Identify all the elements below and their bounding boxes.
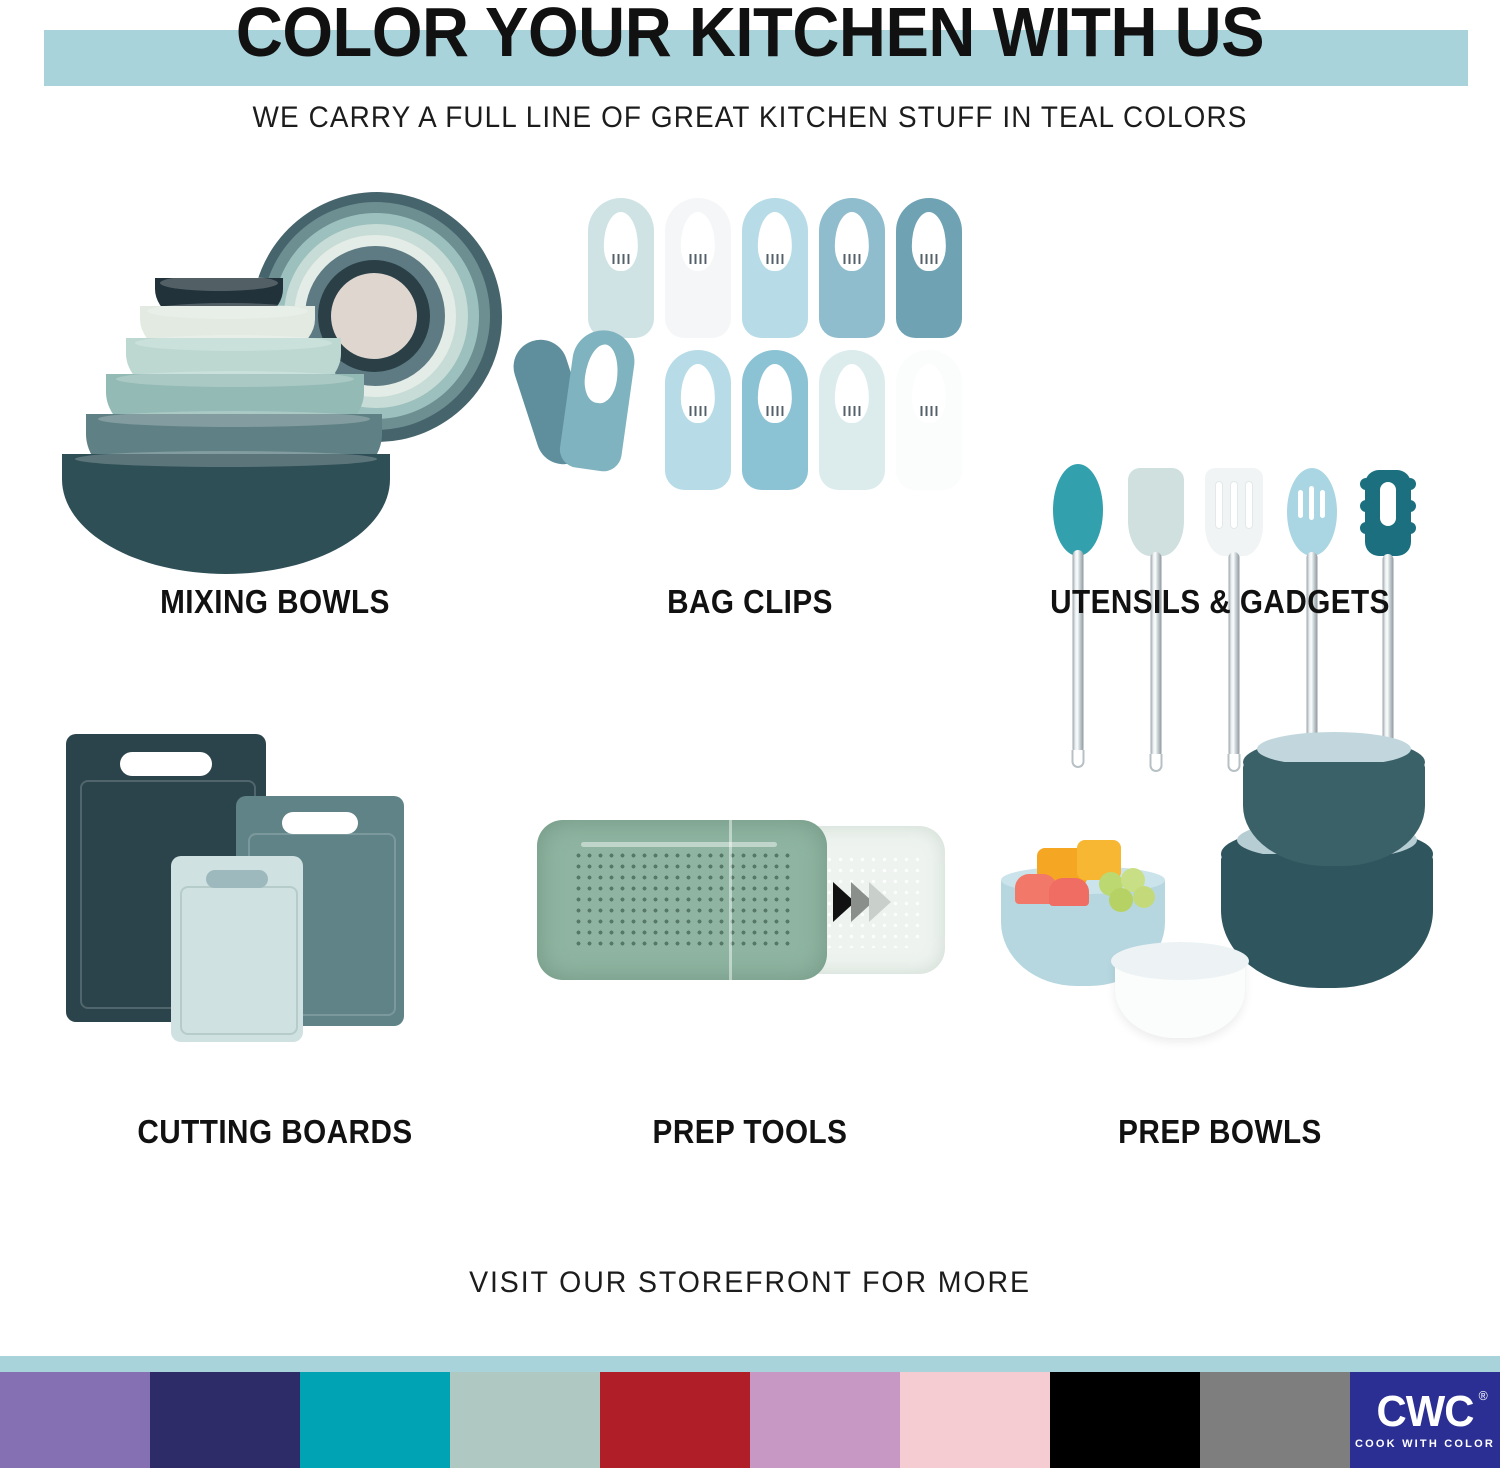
page-subtitle: WE CARRY A FULL LINE OF GREAT KITCHEN ST… [53, 100, 1448, 136]
product-label: PREP TOOLS [539, 1112, 962, 1152]
cutting-boards-photo [40, 708, 510, 1108]
poster-canvas: COLOR YOUR KITCHEN WITH US WE CARRY A FU… [0, 0, 1500, 1468]
swatch-gray [1200, 1372, 1350, 1468]
page-title: COLOR YOUR KITCHEN WITH US [53, 0, 1448, 70]
swatch-pink [900, 1372, 1050, 1468]
product-label: BAG CLIPS [539, 582, 962, 622]
mixing-bowls-photo [40, 178, 510, 578]
swatch-sage [450, 1372, 600, 1468]
header: COLOR YOUR KITCHEN WITH US WE CARRY A FU… [0, 0, 1500, 150]
product-grid: MIXING BOWLS [0, 178, 1500, 1238]
storefront-callout: VISIT OUR STOREFRONT FOR MORE [38, 1265, 1463, 1301]
swatch-orchid [750, 1372, 900, 1468]
product-card-cutting-boards[interactable]: CUTTING BOARDS [40, 708, 510, 1178]
logo-wordmark: CWC ® [1377, 1391, 1474, 1433]
bag-clips-photo [515, 178, 985, 578]
swatch-red [600, 1372, 750, 1468]
swatch-teal [300, 1372, 450, 1468]
footer-accent-band [0, 1356, 1500, 1372]
swatch-navy [150, 1372, 300, 1468]
logo-tagline: COOK WITH COLOR [1355, 1438, 1495, 1450]
product-label: CUTTING BOARDS [64, 1112, 487, 1152]
product-label: UTENSILS & GADGETS [1009, 582, 1432, 622]
swatch-black [1050, 1372, 1200, 1468]
swatch-purple [0, 1372, 150, 1468]
logo-mark-text: CWC [1377, 1387, 1474, 1436]
brand-logo: CWC ® COOK WITH COLOR [1350, 1372, 1500, 1468]
prep-bowls-photo [985, 708, 1455, 1108]
product-card-prep-tools[interactable]: PREP TOOLS [515, 708, 985, 1178]
product-card-mixing-bowls[interactable]: MIXING BOWLS [40, 178, 510, 648]
color-swatch-strip: CWC ® COOK WITH COLOR [0, 1372, 1500, 1468]
product-card-utensils[interactable]: UTENSILS & GADGETS [985, 178, 1455, 648]
product-card-bag-clips[interactable]: BAG CLIPS [515, 178, 985, 648]
product-label: MIXING BOWLS [64, 582, 487, 622]
utensils-gadgets-photo [985, 178, 1455, 578]
registered-trademark-icon: ® [1479, 1389, 1487, 1402]
prep-tools-colander-photo [515, 708, 985, 1108]
product-label: PREP BOWLS [1009, 1112, 1432, 1152]
product-card-prep-bowls[interactable]: PREP BOWLS [985, 708, 1455, 1178]
